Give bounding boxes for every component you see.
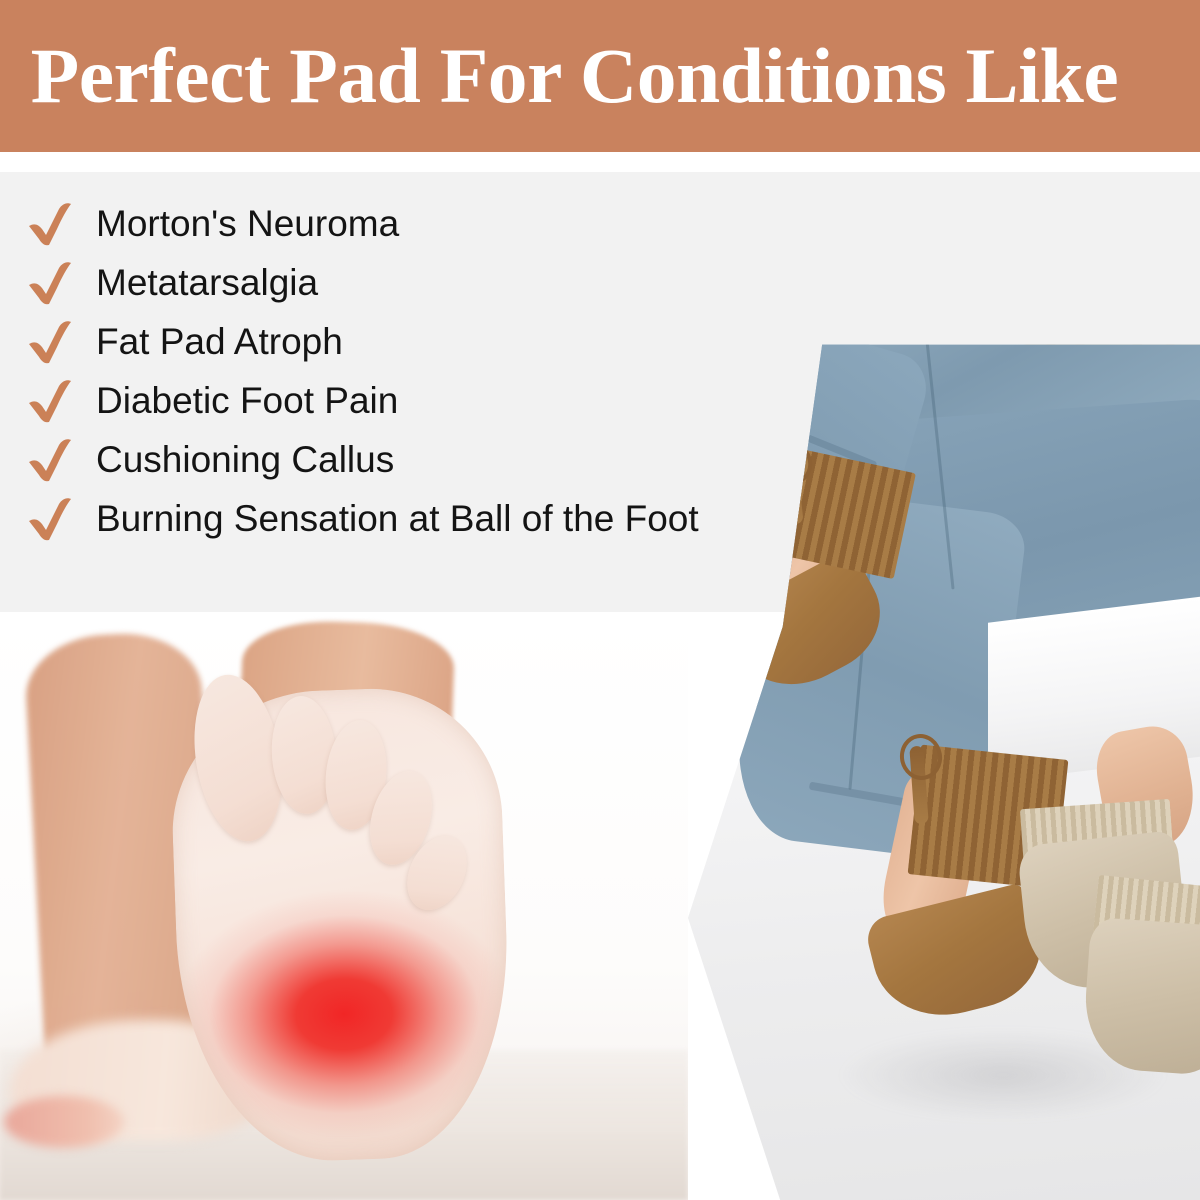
list-item: Morton's Neuroma: [0, 194, 760, 253]
list-item: Diabetic Foot Pain: [0, 371, 760, 430]
blurred-toes-shape: [4, 1096, 124, 1148]
list-item-label: Cushioning Callus: [96, 441, 394, 478]
check-icon: [26, 497, 74, 541]
check-icon: [26, 320, 74, 364]
conditions-list: Morton's Neuroma Metatarsalgia Fat Pad A…: [0, 194, 760, 548]
list-item-label: Fat Pad Atroph: [96, 323, 343, 360]
list-item: Cushioning Callus: [0, 430, 760, 489]
page-title: Perfect Pad For Conditions Like: [0, 37, 1118, 115]
check-icon: [26, 202, 74, 246]
list-item-label: Morton's Neuroma: [96, 205, 399, 242]
header-banner: Perfect Pad For Conditions Like: [0, 0, 1200, 152]
foot-sole-pain-photo: [0, 612, 688, 1200]
list-item-label: Diabetic Foot Pain: [96, 382, 398, 419]
check-icon: [26, 379, 74, 423]
list-item: Fat Pad Atroph: [0, 312, 760, 371]
list-item-label: Burning Sensation at Ball of the Foot: [96, 500, 699, 537]
list-item: Metatarsalgia: [0, 253, 760, 312]
list-item-label: Metatarsalgia: [96, 264, 318, 301]
check-icon: [26, 261, 74, 305]
product-feature-card: Perfect Pad For Conditions Like Morton's…: [0, 0, 1200, 1200]
list-item: Burning Sensation at Ball of the Foot: [0, 489, 760, 548]
check-icon: [26, 438, 74, 482]
